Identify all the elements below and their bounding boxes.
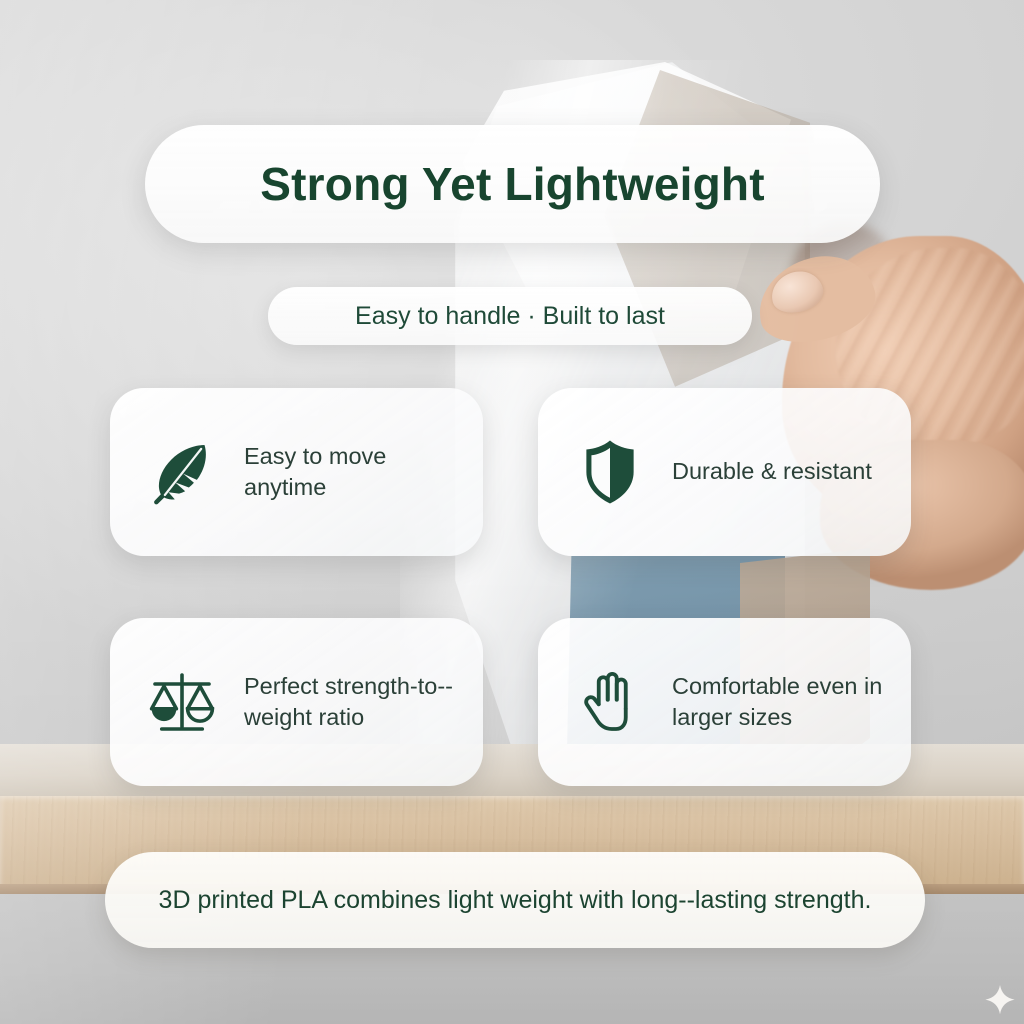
feather-icon bbox=[144, 434, 220, 510]
feature-label: Durable & resistant bbox=[672, 456, 872, 487]
feature-label: Comfortable even in larger sizes bbox=[672, 671, 889, 733]
feature-label: Easy to move anytime bbox=[244, 441, 461, 503]
page-subtitle: Easy to handle · Built to last bbox=[355, 302, 665, 331]
feature-label: Perfect strength-to--weight ratio bbox=[244, 671, 461, 733]
feature-card-strength-to-weight[interactable]: Perfect strength-to--weight ratio bbox=[110, 618, 483, 786]
open-hand-icon bbox=[572, 664, 648, 740]
feature-card-easy-to-move[interactable]: Easy to move anytime bbox=[110, 388, 483, 556]
page-title: Strong Yet Lightweight bbox=[260, 157, 764, 211]
subtitle-pill: Easy to handle · Built to last bbox=[268, 287, 752, 345]
shield-icon bbox=[572, 434, 648, 510]
footer-pill: 3D printed PLA combines light weight wit… bbox=[105, 852, 925, 948]
footer-text: 3D printed PLA combines light weight wit… bbox=[159, 883, 872, 918]
balance-scales-icon bbox=[144, 664, 220, 740]
title-pill: Strong Yet Lightweight bbox=[145, 125, 880, 243]
sparkle-icon bbox=[984, 984, 1016, 1016]
poster-scene: Strong Yet Lightweight Easy to handle · … bbox=[0, 0, 1024, 1024]
feature-card-durable[interactable]: Durable & resistant bbox=[538, 388, 911, 556]
feature-card-grid: Easy to move anytime Durable & resistant bbox=[110, 388, 920, 786]
feature-card-comfortable[interactable]: Comfortable even in larger sizes bbox=[538, 618, 911, 786]
